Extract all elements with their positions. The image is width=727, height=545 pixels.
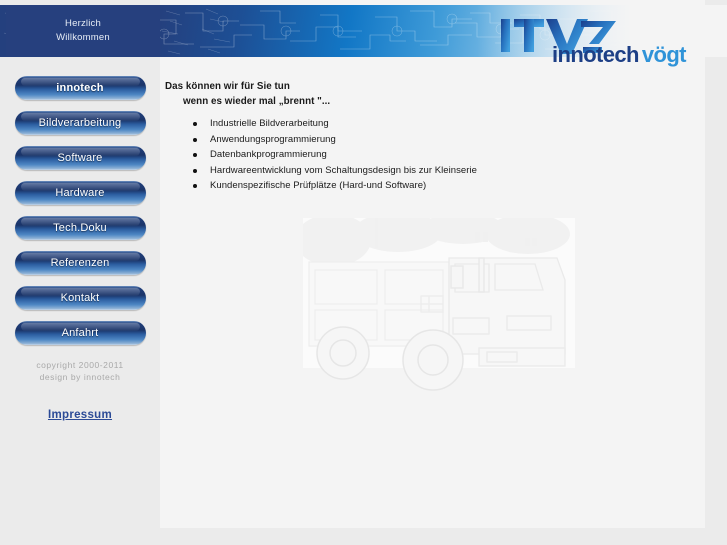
sidebar-item-software[interactable]: Software (15, 146, 146, 170)
sidebar-item-tech-doku[interactable]: Tech.Doku (15, 216, 146, 240)
sidebar-item-label: innotech (56, 82, 103, 94)
welcome-line-1: Herzlich (65, 17, 101, 31)
copyright-line-2: design by innotech (0, 371, 160, 383)
logo-word-voegt: vögt (642, 42, 686, 67)
sidebar-item-bildverarbeitung[interactable]: Bildverarbeitung (15, 111, 146, 135)
sidebar-item-label: Anfahrt (62, 327, 99, 339)
service-list-item: Hardwareentwicklung vom Schaltungsdesign… (191, 163, 695, 179)
fire-truck-photo (303, 218, 575, 406)
sidebar-item-innotech[interactable]: innotech (15, 76, 146, 100)
service-list-item: Anwendungsprogrammierung (191, 132, 695, 148)
service-list: Industrielle BildverarbeitungAnwendungsp… (165, 116, 695, 194)
impressum-link[interactable]: Impressum (48, 409, 112, 421)
service-list-item: Kundenspezifische Prüfplätze (Hard-und S… (191, 178, 695, 194)
welcome-box: Herzlich Willkommen (6, 5, 160, 56)
sidebar-item-label: Hardware (55, 187, 104, 199)
page-root: Herzlich Willkommen (0, 0, 727, 545)
service-list-item: Industrielle Bildverarbeitung (191, 116, 695, 132)
sidebar-item-label: Kontakt (61, 292, 100, 304)
sidebar-item-anfahrt[interactable]: Anfahrt (15, 321, 146, 345)
impressum-wrap: Impressum (0, 405, 160, 423)
copyright-line-1: copyright 2000-2011 (0, 359, 160, 371)
page-headline: Das können wir für Sie tun (165, 80, 695, 94)
sidebar-item-label: Bildverarbeitung (39, 117, 122, 129)
copyright-block: copyright 2000-2011 design by innotech (0, 359, 160, 383)
sidebar-nav-list: innotechBildverarbeitungSoftwareHardware… (0, 57, 160, 345)
sidebar: innotechBildverarbeitungSoftwareHardware… (0, 57, 160, 545)
main-content: Das können wir für Sie tun wenn es wiede… (165, 80, 695, 194)
sidebar-item-kontakt[interactable]: Kontakt (15, 286, 146, 310)
service-list-item: Datenbankprogrammierung (191, 147, 695, 163)
sidebar-item-referenzen[interactable]: Referenzen (15, 251, 146, 275)
logo-word-innotech: innotech (552, 42, 639, 67)
sidebar-item-label: Referenzen (51, 257, 110, 269)
sidebar-item-label: Tech.Doku (53, 222, 107, 234)
page-subheadline: wenn es wieder mal „brennt "... (183, 95, 695, 109)
sidebar-item-label: Software (57, 152, 102, 164)
sidebar-item-hardware[interactable]: Hardware (15, 181, 146, 205)
fire-truck-icon (303, 218, 575, 406)
welcome-line-2: Willkommen (56, 31, 110, 45)
company-logo[interactable]: innotechvögt (497, 14, 702, 72)
